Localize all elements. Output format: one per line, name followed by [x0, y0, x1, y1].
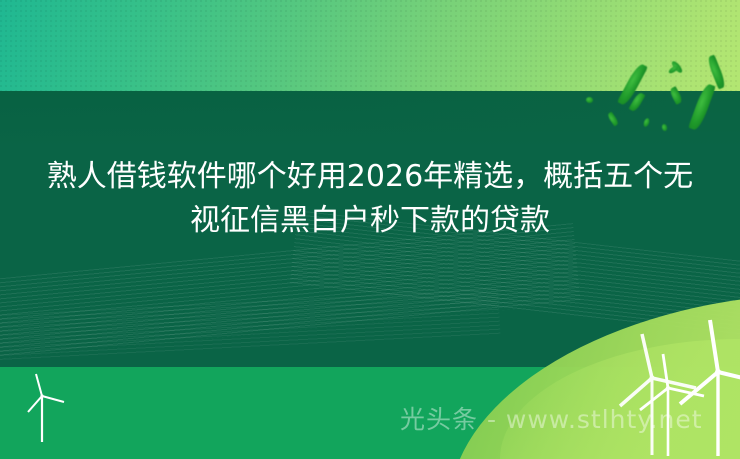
promo-banner: 熟人借钱软件哪个好用2026年精选，概括五个无视征信黑白户秒下款的贷款 光头条 …: [0, 0, 740, 459]
body-dark-panel-blend: [0, 91, 740, 153]
watermark: 光头条 - www.stlhty.net: [400, 404, 703, 436]
page-title: 熟人借钱软件哪个好用2026年精选，概括五个无视征信黑白户秒下款的贷款: [40, 155, 700, 243]
